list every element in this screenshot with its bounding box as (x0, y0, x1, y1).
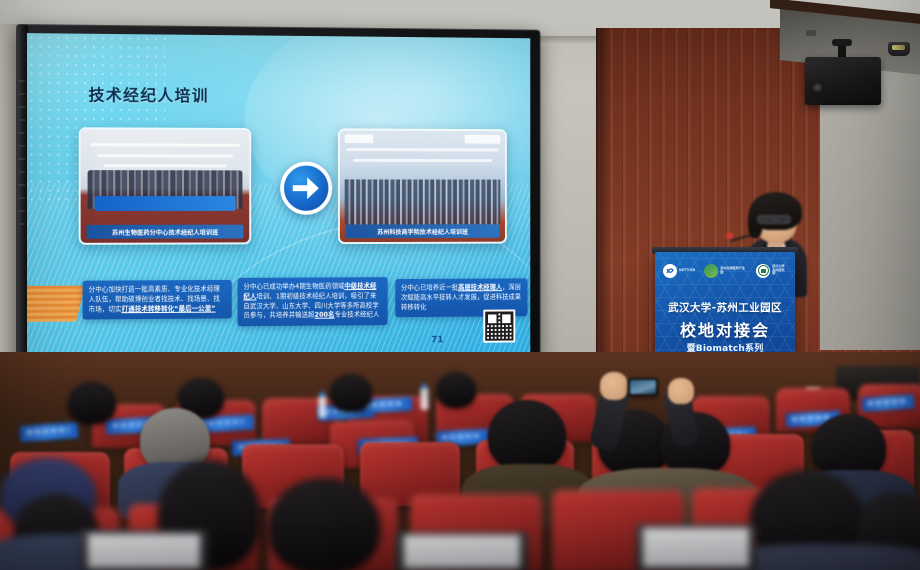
audience-head (268, 478, 380, 570)
photo-right-caption: 苏州科技商学院技术经纪人培训班 (346, 224, 500, 238)
audience-head (436, 372, 476, 408)
whu-logo-icon (756, 264, 770, 278)
conference-hall-scene: 技术经纪人培训 苏州生物医药分中心技术经纪人培训班 (0, 0, 920, 570)
textbox-1-highlight: 打通技术转移转化“最后一公里” (122, 304, 216, 313)
bidirectional-arrows-icon (280, 162, 332, 215)
audience-head (68, 382, 116, 424)
display-vent-detail (19, 80, 25, 230)
slide-textbox-1: 分中心加快打造一批高素质、专业化技术经理人队伍，帮助硕博创业者找技术、找场景、找… (83, 280, 232, 320)
glasses-icon (757, 215, 791, 224)
smartphone-recording[interactable] (628, 378, 658, 396)
laptop[interactable] (80, 530, 208, 570)
podium-logo-whu: 武汉大学 苏州研究院 (756, 264, 787, 278)
photo-right-audience (345, 180, 500, 225)
podium-logo-nktt-text: NKTTCEN (679, 269, 695, 272)
podium-logo-nktt: NKTTCEN (663, 264, 695, 278)
hand (668, 378, 694, 404)
laptop-screen (643, 528, 749, 567)
slide-photo-right: 苏州科技商学院技术经纪人培训班 (338, 128, 507, 244)
wall-speaker-icon (805, 57, 881, 105)
hand (600, 372, 628, 400)
audience-head (330, 374, 372, 412)
orange-accent-bar (27, 286, 85, 322)
slide-photo-left: 苏州生物医药分中心技术经纪人培训班 (79, 127, 252, 245)
water-bottle[interactable] (318, 396, 327, 418)
podium-banner-line1: 武汉大学-苏州工业园区 (655, 300, 795, 315)
textbox-3-lead: 分中心已培养近一批 (401, 284, 458, 292)
laptop-screen (88, 534, 201, 568)
laptop[interactable] (396, 532, 528, 570)
slide-page-number: 71 (431, 335, 443, 345)
podium-banner-line2: 校地对接会 (655, 317, 795, 341)
slide-textbox-2: 分中心已成功举办4期生物医药领域中级技术经纪人培训、1期初级技术经纪人培训，吸引… (238, 277, 388, 326)
smartphone-screen (630, 380, 656, 394)
audience-head (488, 400, 566, 472)
display-panel: 技术经纪人培训 苏州生物医药分中心技术经纪人培训班 (27, 33, 530, 363)
park-logo-icon (704, 264, 718, 278)
presentation-display[interactable]: 技术经纪人培训 苏州生物医药分中心技术经纪人培训班 (17, 25, 540, 373)
water-bottle[interactable] (420, 388, 429, 410)
photo-right-logo-left (345, 134, 374, 143)
podium-logo-row: NKTTCEN 苏州生物医药产业园 武汉大学 苏州研究院 (663, 262, 787, 279)
nktt-logo-icon (663, 264, 677, 278)
photo-left-banner (94, 196, 236, 211)
laptop[interactable] (636, 524, 756, 570)
slide-title: 技术经纪人培训 (89, 82, 209, 107)
ceiling-camera-icon (888, 42, 910, 56)
podium-logo-park-text: 苏州生物医药产业园 (720, 267, 747, 274)
podium-logo-whu-text-group: 武汉大学 苏州研究院 (772, 265, 787, 275)
textbox-2-tail: 专业技术经纪人 (335, 311, 380, 319)
textbox-3-highlight: 高层技术经理人 (458, 283, 502, 291)
laptop-screen (404, 535, 520, 568)
photo-right-logo-right (464, 135, 500, 144)
microphone-icon (726, 232, 733, 239)
slide-canvas: 技术经纪人培训 苏州生物医药分中心技术经纪人培训班 (27, 33, 530, 363)
textbox-2-highlight-2: 200名 (315, 311, 335, 319)
qr-code-icon (483, 309, 515, 342)
ceiling-mount-knob (806, 30, 816, 36)
podium-logo-whu-en: 苏州研究院 (772, 269, 787, 276)
textbox-2-lead: 分中心已成功举办4期生物医药领域 (243, 282, 344, 290)
podium-logo-park: 苏州生物医药产业园 (704, 264, 747, 278)
photo-left-caption: 苏州生物医药分中心技术经纪人培训班 (87, 225, 244, 239)
